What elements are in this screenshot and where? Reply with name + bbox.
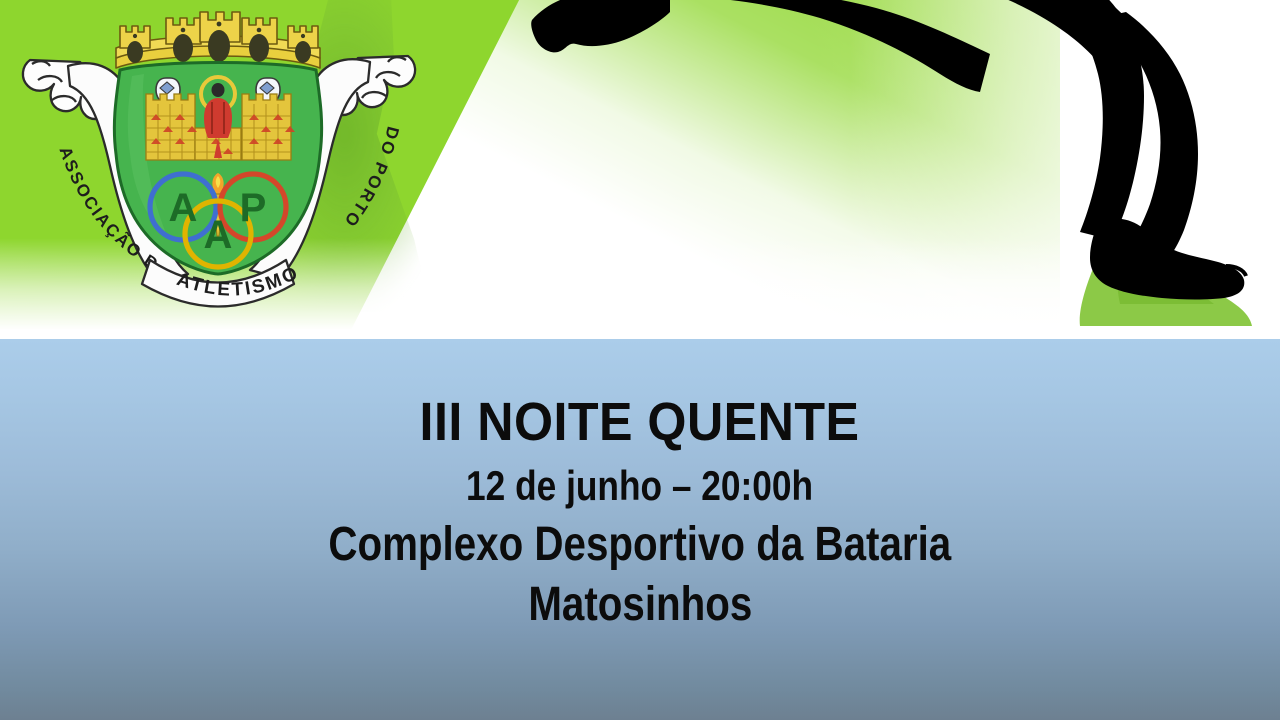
svg-text:DO PORTO: DO PORTO — [339, 125, 402, 232]
svg-text:P: P — [240, 186, 267, 230]
svg-text:A: A — [204, 213, 233, 257]
panel-separator — [0, 329, 1280, 339]
event-venue: Complexo Desportivo da Bataria — [329, 515, 952, 575]
event-city: Matosinhos — [528, 575, 752, 635]
runner-silhouette-icon — [520, 0, 1280, 330]
event-date: 12 de junho – 20:00h — [466, 459, 813, 513]
event-info-panel: III NOITE QUENTE 12 de junho – 20:00h Co… — [0, 339, 1280, 720]
runner-rear-leg — [531, 0, 670, 52]
banner-header: ASSOCIAÇÃO DE DO PORTO — [0, 0, 1280, 330]
aap-crest-logo: ASSOCIAÇÃO DE DO PORTO — [8, 2, 428, 314]
event-title: III NOITE QUENTE — [420, 393, 860, 451]
svg-text:A: A — [169, 186, 198, 230]
event-poster: ASSOCIAÇÃO DE DO PORTO — [0, 0, 1280, 720]
runner-rear-thigh — [640, 0, 990, 92]
crest-crown — [116, 12, 320, 68]
